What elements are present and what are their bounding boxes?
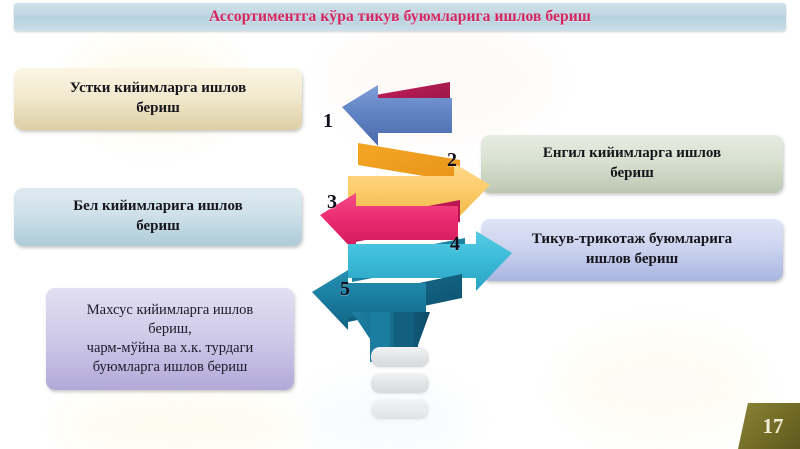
box-light-garments-line-1: Енгил кийимларга ишлов — [543, 144, 721, 164]
box-special-garments-line-3: чарм-мўйна ва х.к. турдаги — [87, 339, 254, 358]
slide-title-bar: Ассортиментга кўра тикув буюмларига ишло… — [14, 3, 786, 31]
box-light-garments-line-2: бериш — [543, 164, 721, 184]
background-blob — [560, 330, 760, 440]
box-waist-garments[interactable]: Бел кийимларига ишлов бериш — [14, 188, 302, 246]
box-upper-garments-line-1: Устки кийимларга ишлов — [70, 79, 247, 99]
base-plate — [371, 373, 429, 393]
chevron-number-1: 1 — [323, 110, 333, 133]
box-waist-garments-line-2: бериш — [73, 217, 242, 237]
chevron-number-2: 2 — [447, 149, 457, 172]
box-waist-garments-line-1: Бел кийимларига ишлов — [73, 197, 242, 217]
base-plate — [371, 347, 429, 367]
box-knitwear-line-2: ишлов бериш — [532, 250, 732, 270]
box-upper-garments-line-2: бериш — [70, 99, 247, 119]
chevron-number-3: 3 — [327, 191, 337, 214]
chevron-number-5: 5 — [340, 278, 350, 301]
box-knitwear-line-1: Тикув-трикотаж буюмларига — [532, 230, 732, 250]
base-plate — [371, 399, 429, 419]
page-number: 17 — [755, 414, 784, 439]
slide-canvas: Ассортиментга кўра тикув буюмларига ишло… — [0, 0, 800, 449]
zigzag-arrow-stack — [300, 60, 530, 425]
box-upper-garments[interactable]: Устки кийимларга ишлов бериш — [14, 68, 302, 130]
chevron-number-4: 4 — [450, 233, 460, 256]
box-special-garments-line-2: бериш, — [87, 320, 254, 339]
box-special-garments-line-1: Махсус кийимларга ишлов — [87, 301, 254, 320]
background-blob — [60, 390, 300, 449]
box-special-garments-line-4: буюмларга ишлов бериш — [87, 358, 254, 377]
page-number-badge: 17 — [738, 403, 800, 449]
page-title: Ассортиментга кўра тикув буюмларига ишло… — [209, 8, 591, 26]
box-special-garments[interactable]: Махсус кийимларга ишлов бериш, чарм-мўйн… — [46, 288, 294, 390]
